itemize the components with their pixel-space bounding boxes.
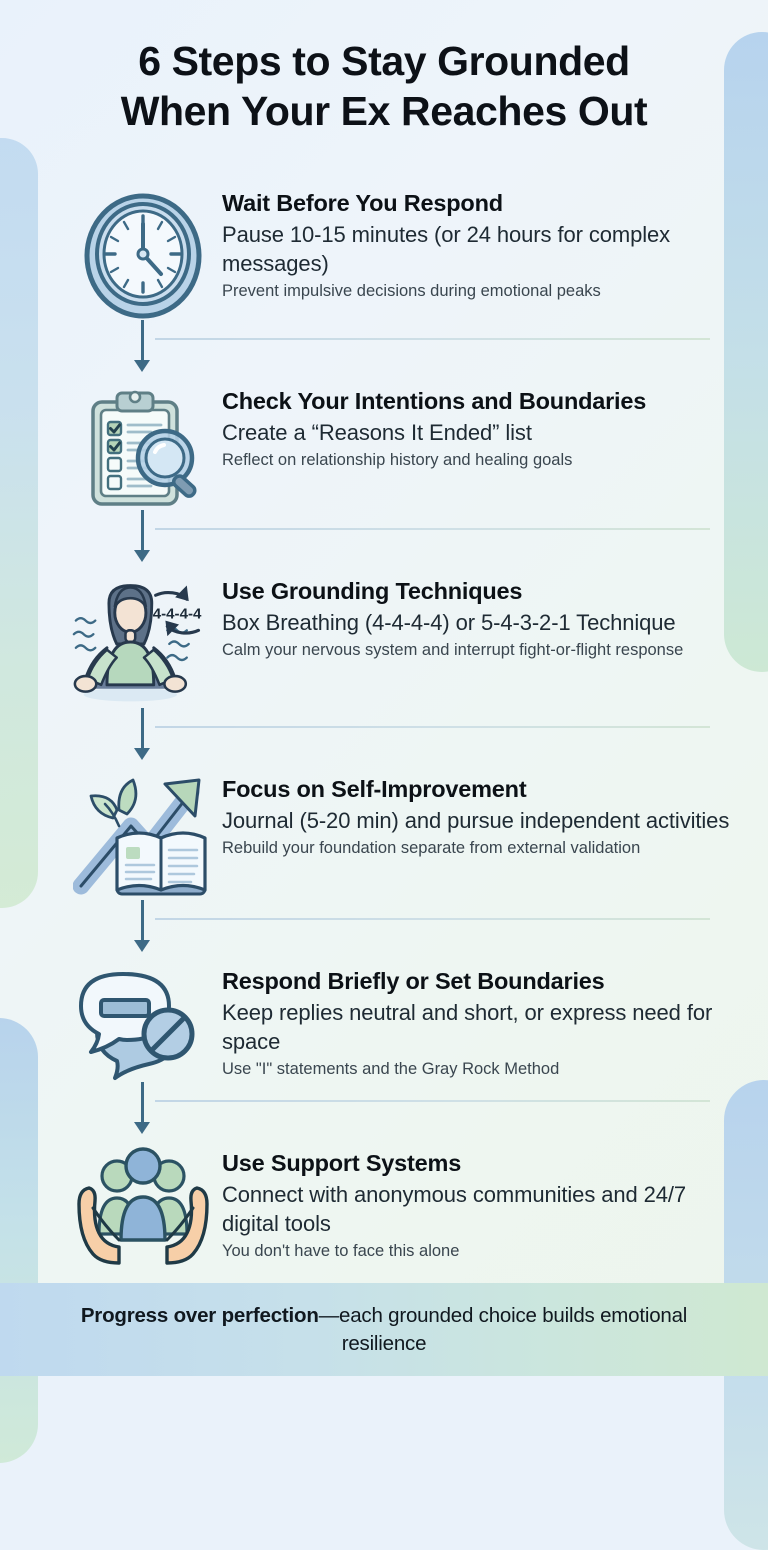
connector-arrowhead-icon: [134, 940, 150, 952]
meditation-icon: 4-4-4-4: [70, 570, 216, 712]
connector-divider-rule: [155, 726, 710, 728]
step-main-text: Create a “Reasons It Ended” list: [222, 418, 732, 447]
page-title-line-2: When Your Ex Reaches Out: [40, 86, 728, 136]
step-text: Check Your Intentions and Boundaries Cre…: [216, 380, 732, 472]
footer-rest-text: —each grounded choice builds emotional r…: [319, 1304, 687, 1354]
step-sub-text: Rebuild your foundation separate from ex…: [222, 838, 732, 859]
step-item: Wait Before You Respond Pause 10-15 minu…: [0, 182, 768, 324]
step-sub-text: Reflect on relationship history and heal…: [222, 450, 732, 471]
step-title: Focus on Self-Improvement: [222, 774, 732, 804]
footer-bold-text: Progress over perfection: [81, 1304, 319, 1327]
step-main-text: Journal (5-20 min) and pursue independen…: [222, 806, 732, 835]
step-text: Use Support Systems Connect with anonymo…: [216, 1142, 732, 1263]
step-item: Focus on Self-Improvement Journal (5-20 …: [0, 768, 768, 904]
page-title-line-1: 6 Steps to Stay Grounded: [40, 36, 728, 86]
step-title: Check Your Intentions and Boundaries: [222, 386, 732, 416]
step-sub-text: Prevent impulsive decisions during emoti…: [222, 281, 732, 302]
step-sub-text: Use "I" statements and the Gray Rock Met…: [222, 1059, 732, 1080]
connector-arrowhead-icon: [134, 748, 150, 760]
step-text: Respond Briefly or Set Boundaries Keep r…: [216, 960, 732, 1081]
footer-text: Progress over perfection—each grounded c…: [0, 1302, 768, 1357]
connector-divider-rule: [155, 528, 710, 530]
connector-arrowhead-icon: [134, 550, 150, 562]
step-main-text: Box Breathing (4-4-4-4) or 5-4-3-2-1 Tec…: [222, 608, 732, 637]
speech-bubbles-block-icon: [70, 960, 216, 1086]
step-item: 4-4-4-4 Use Grounding Techniques Box Bre…: [0, 570, 768, 712]
step-sub-text: You don't have to face this alone: [222, 1241, 732, 1262]
step-main-text: Connect with anonymous communities and 2…: [222, 1180, 732, 1238]
footer-banner: Progress over perfection—each grounded c…: [0, 1283, 768, 1376]
connector-divider-rule: [155, 338, 710, 340]
step-title: Wait Before You Respond: [222, 188, 732, 218]
step-item: Check Your Intentions and Boundaries Cre…: [0, 380, 768, 514]
connector-divider-rule: [155, 918, 710, 920]
step-connector: [0, 324, 768, 380]
connector-arrowhead-icon: [134, 360, 150, 372]
clipboard-magnifier-icon: [70, 380, 216, 514]
step-connector: [0, 712, 768, 768]
breathing-annotation: 4-4-4-4: [153, 606, 202, 623]
step-item: Respond Briefly or Set Boundaries Keep r…: [0, 960, 768, 1086]
step-item: Use Support Systems Connect with anonymo…: [0, 1142, 768, 1272]
step-connector: [0, 904, 768, 960]
connector-divider-rule: [155, 1100, 710, 1102]
growth-book-icon: [70, 768, 216, 904]
step-title: Use Support Systems: [222, 1148, 732, 1178]
step-text: Use Grounding Techniques Box Breathing (…: [216, 570, 732, 662]
step-main-text: Pause 10-15 minutes (or 24 hours for com…: [222, 220, 732, 278]
page-title: 6 Steps to Stay Grounded When Your Ex Re…: [0, 36, 768, 136]
step-connector: [0, 514, 768, 570]
clock-icon: [70, 182, 216, 324]
step-text: Wait Before You Respond Pause 10-15 minu…: [216, 182, 732, 303]
step-main-text: Keep replies neutral and short, or expre…: [222, 998, 732, 1056]
step-title: Use Grounding Techniques: [222, 576, 732, 606]
supporting-hands-icon: [70, 1142, 216, 1272]
step-title: Respond Briefly or Set Boundaries: [222, 966, 732, 996]
connector-arrowhead-icon: [134, 1122, 150, 1134]
step-sub-text: Calm your nervous system and interrupt f…: [222, 640, 732, 661]
step-text: Focus on Self-Improvement Journal (5-20 …: [216, 768, 732, 860]
step-connector: [0, 1086, 768, 1142]
steps-list: Wait Before You Respond Pause 10-15 minu…: [0, 182, 768, 1272]
